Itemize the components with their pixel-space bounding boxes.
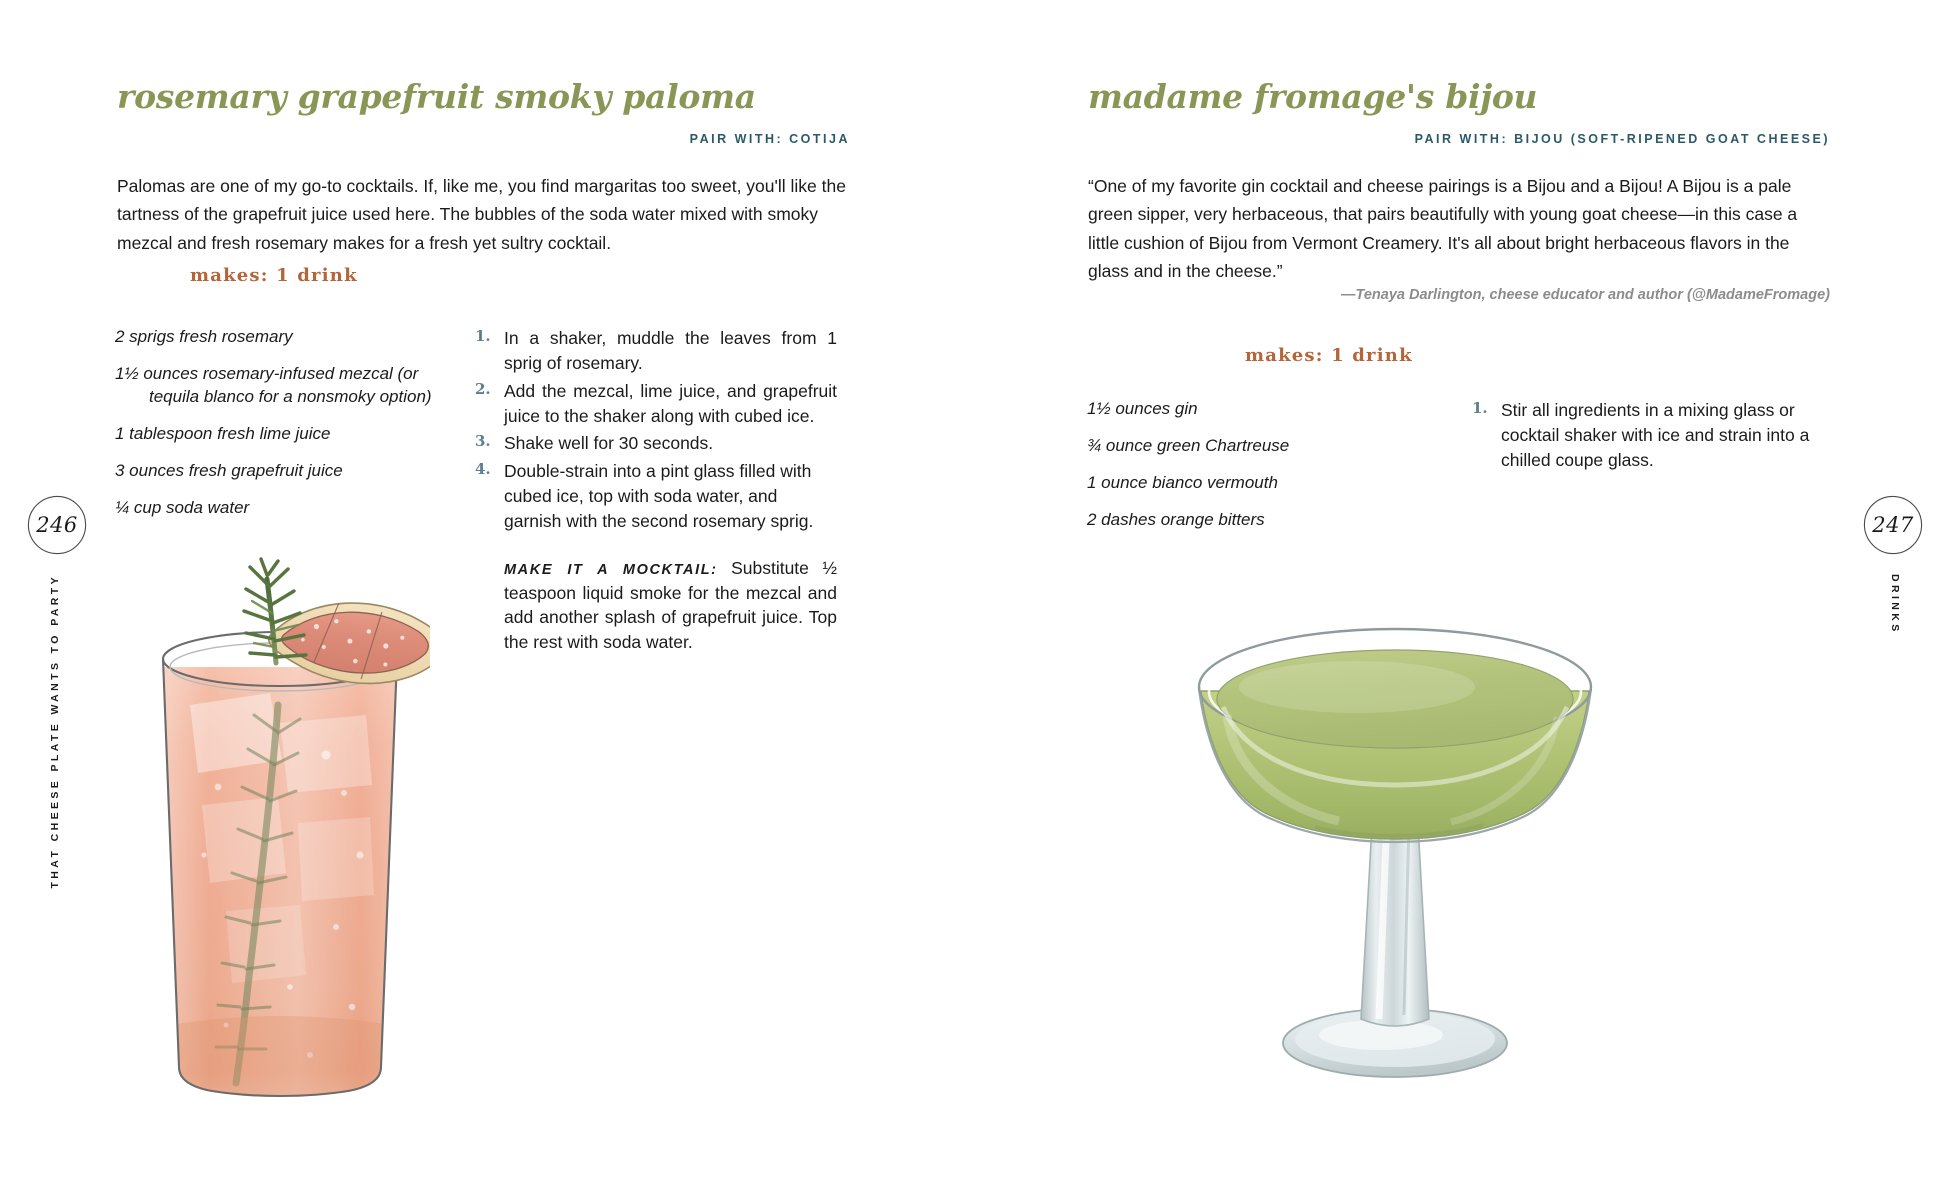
step-number: 1. <box>475 326 491 347</box>
ingredient-item: ¾ ounce green Chartreuse <box>1087 435 1417 458</box>
quote-paragraph: “One of my favorite gin cocktail and che… <box>1088 172 1830 285</box>
ingredient-item: ¼ cup soda water <box>115 497 445 520</box>
step-item: 2. Add the mezcal, lime juice, and grape… <box>475 379 837 429</box>
steps-list-right: 1. Stir all ingredients in a mixing glas… <box>1472 398 1832 473</box>
step-text: In a shaker, muddle the leaves from 1 sp… <box>504 328 837 373</box>
ingredient-item: 1½ ounces rosemary-infused mezcal (or te… <box>115 363 445 409</box>
step-number: 2. <box>475 379 491 400</box>
ingredient-item: 3 ounces fresh grapefruit juice <box>115 460 445 483</box>
intro-paragraph-left: Palomas are one of my go-to cocktails. I… <box>117 172 852 257</box>
recipe-title-left: rosemary grapefruit smoky paloma <box>117 80 756 113</box>
coupe-bijou-illustration <box>1165 595 1625 1095</box>
pair-with-right: PAIR WITH: BIJOU (SOFT-RIPENED GOAT CHEE… <box>1088 132 1830 146</box>
step-text: Shake well for 30 seconds. <box>504 433 713 453</box>
step-text: Stir all ingredients in a mixing glass o… <box>1501 400 1809 470</box>
mocktail-note: MAKE IT A MOCKTAIL: Substitute ½ teaspoo… <box>475 556 837 655</box>
step-item: 1. Stir all ingredients in a mixing glas… <box>1472 398 1832 473</box>
makes-label-right: makes: 1 drink <box>1245 345 1413 366</box>
paloma-glass-icon <box>130 555 430 1115</box>
running-head-right: DRINKS <box>1889 574 1901 635</box>
step-item: 3. Shake well for 30 seconds. <box>475 431 837 456</box>
quote-attribution: —Tenaya Darlington, cheese educator and … <box>1285 285 1830 306</box>
highball-paloma-illustration <box>130 555 430 1115</box>
step-item: 4. Double-strain into a pint glass fille… <box>475 459 837 534</box>
ingredient-item: 1 tablespoon fresh lime juice <box>115 423 445 446</box>
step-item: 1. In a shaker, muddle the leaves from 1… <box>475 326 837 376</box>
page-number-right-value: 247 <box>1872 513 1914 537</box>
step-text: Add the mezcal, lime juice, and grapefru… <box>504 381 837 426</box>
mocktail-label: MAKE IT A MOCKTAIL: <box>504 562 718 578</box>
ingredient-item: 1 ounce bianco vermouth <box>1087 472 1417 495</box>
page-number-left: 246 <box>26 494 88 556</box>
steps-list-left: 1. In a shaker, muddle the leaves from 1… <box>475 326 837 534</box>
page-number-right: 247 <box>1862 494 1924 556</box>
step-text: Double-strain into a pint glass filled w… <box>504 461 813 531</box>
coupe-glass-icon <box>1165 595 1625 1095</box>
book-spread: 246 THAT CHEESE PLATE WANTS TO PARTY ros… <box>0 0 1950 1200</box>
makes-label-left: makes: 1 drink <box>190 265 358 286</box>
step-number: 1. <box>1472 398 1488 419</box>
recipe-title-right: madame fromage's bijou <box>1088 80 1537 113</box>
step-number: 3. <box>475 431 491 452</box>
ingredients-list-right: 1½ ounces gin ¾ ounce green Chartreuse 1… <box>1087 398 1417 546</box>
ingredient-item: 2 sprigs fresh rosemary <box>115 326 445 349</box>
pair-with-left: PAIR WITH: COTIJA <box>117 132 850 146</box>
step-number: 4. <box>475 459 491 480</box>
running-head-left: THAT CHEESE PLATE WANTS TO PARTY <box>49 574 61 889</box>
left-page: 246 THAT CHEESE PLATE WANTS TO PARTY ros… <box>0 0 975 1200</box>
page-number-left-value: 246 <box>36 513 78 537</box>
right-page: 247 DRINKS madame fromage's bijou PAIR W… <box>975 0 1950 1200</box>
ingredient-item: 1½ ounces gin <box>1087 398 1417 421</box>
ingredient-item: 2 dashes orange bitters <box>1087 509 1417 532</box>
